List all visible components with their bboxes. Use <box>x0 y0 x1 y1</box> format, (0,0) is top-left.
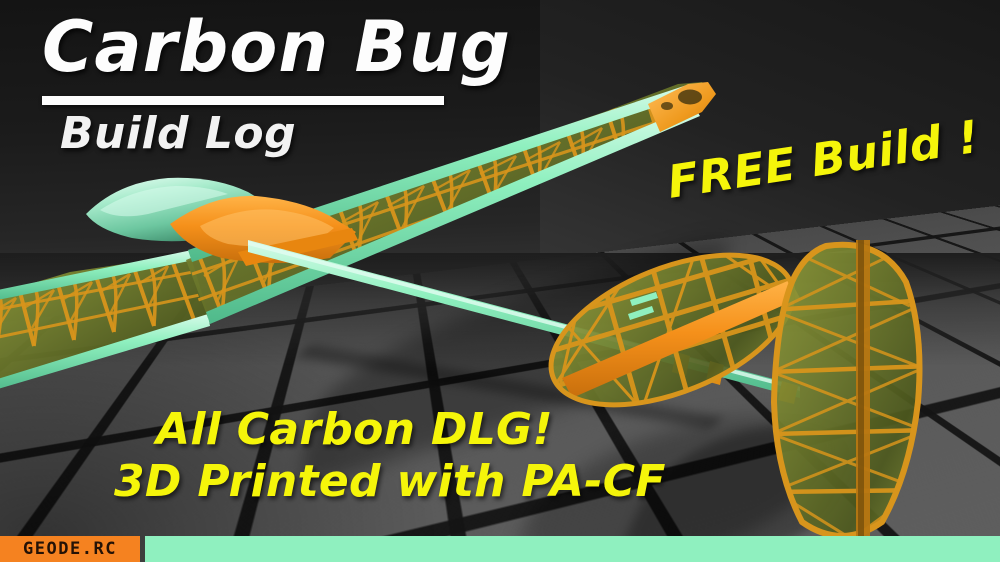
bottom-brand-bar: GEODE.RC <box>0 536 1000 562</box>
page-title: Carbon Bug <box>42 12 511 82</box>
page-subtitle: Build Log <box>60 112 296 156</box>
thumbnail-canvas: Carbon Bug Build Log FREE Build ! All Ca… <box>0 0 1000 562</box>
title-underline-rule <box>42 96 444 105</box>
vertical-fin <box>770 240 930 552</box>
mint-accent-bar <box>145 536 1000 562</box>
tagline-all-carbon-dlg: All Carbon DLG! <box>156 404 553 455</box>
geode-rc-logo: GEODE.RC <box>0 536 140 562</box>
left-wing-panel <box>0 246 214 392</box>
tagline-3d-printed-pa-cf: 3D Printed with PA-CF <box>114 456 666 507</box>
